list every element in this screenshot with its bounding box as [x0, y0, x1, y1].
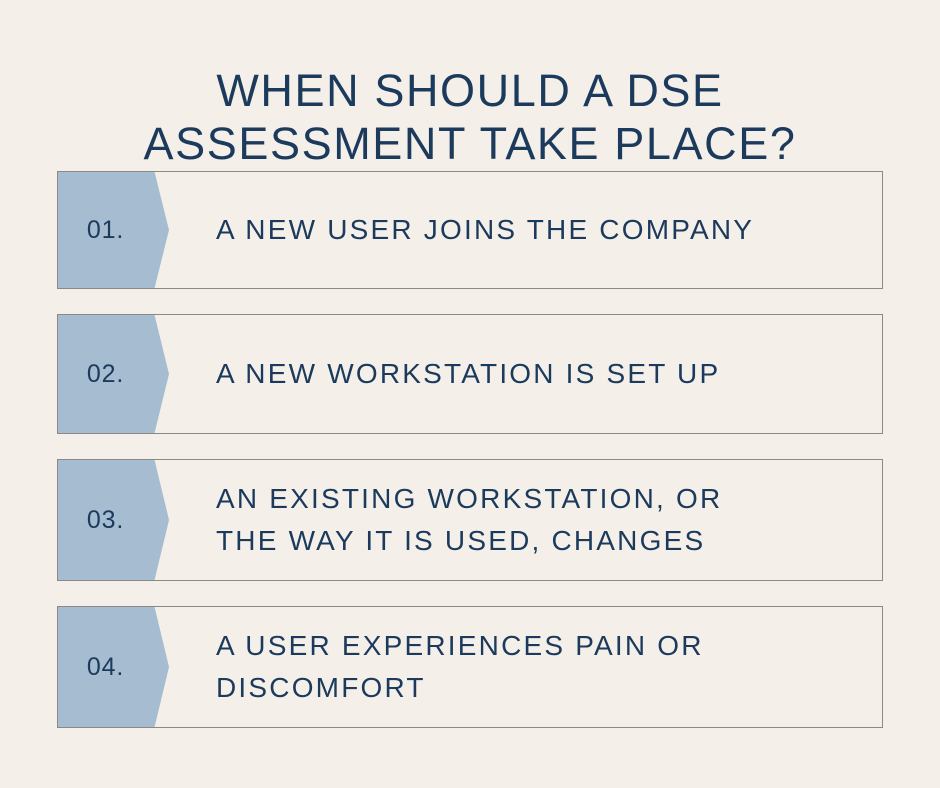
- list-item-text: A USER EXPERIENCES PAIN OR DISCOMFORT: [169, 607, 882, 727]
- slide-root: WHEN SHOULD A DSE ASSESSMENT TAKE PLACE?…: [0, 0, 940, 788]
- list-item-text: AN EXISTING WORKSTATION, OR THE WAY IT I…: [169, 460, 882, 580]
- step-number-label: 02.: [87, 360, 124, 389]
- step-number-badge: 02.: [58, 315, 169, 433]
- step-number-label: 04.: [87, 653, 124, 682]
- step-number-label: 03.: [87, 506, 124, 535]
- list-item: 02. A NEW WORKSTATION IS SET UP: [57, 314, 883, 434]
- step-number-badge: 03.: [58, 460, 169, 580]
- step-number-badge: 01.: [58, 172, 169, 288]
- step-number-badge: 04.: [58, 607, 169, 727]
- list-item-text: A NEW WORKSTATION IS SET UP: [169, 315, 882, 433]
- page-title: WHEN SHOULD A DSE ASSESSMENT TAKE PLACE?: [0, 64, 940, 170]
- list-item: 03. AN EXISTING WORKSTATION, OR THE WAY …: [57, 459, 883, 581]
- step-number-label: 01.: [87, 216, 124, 245]
- list-item: 04. A USER EXPERIENCES PAIN OR DISCOMFOR…: [57, 606, 883, 728]
- reason-list: 01. A NEW USER JOINS THE COMPANY 02. A N…: [57, 171, 883, 728]
- list-item-text: A NEW USER JOINS THE COMPANY: [169, 172, 882, 288]
- list-item: 01. A NEW USER JOINS THE COMPANY: [57, 171, 883, 289]
